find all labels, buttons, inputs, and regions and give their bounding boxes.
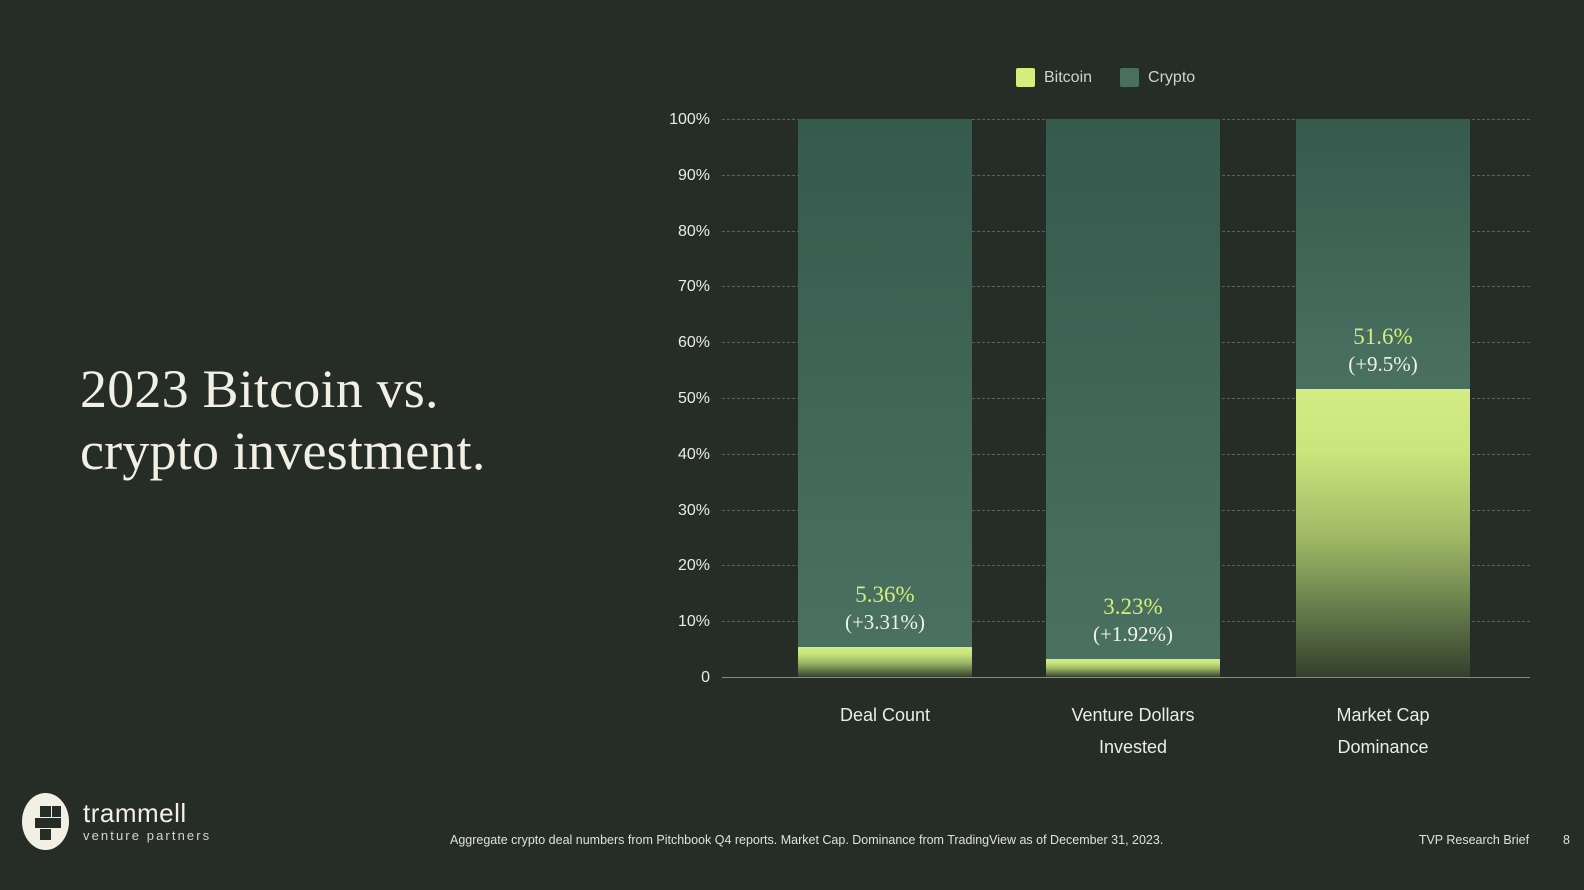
bar-data-label: 5.36%(+3.31%) bbox=[845, 581, 925, 635]
research-brief-label: TVP Research Brief bbox=[1419, 833, 1529, 847]
bar-data-label: 3.23%(+1.92%) bbox=[1093, 593, 1173, 647]
title-line-1: 2023 Bitcoin vs. bbox=[80, 358, 680, 420]
bar-value-text: 51.6% bbox=[1348, 323, 1418, 351]
category-axis-labels: Deal CountVenture DollarsInvestedMarket … bbox=[722, 677, 1484, 720]
legend-label-crypto: Crypto bbox=[1148, 69, 1195, 87]
legend-item-crypto[interactable]: Crypto bbox=[1120, 68, 1195, 87]
bar-group-deal-count[interactable]: 5.36%(+3.31%) bbox=[798, 119, 972, 677]
bar-segment-bitcoin[interactable] bbox=[1046, 659, 1220, 677]
source-footnote: Aggregate crypto deal numbers from Pitch… bbox=[450, 833, 1163, 847]
category-label-deal-count: Deal Count bbox=[785, 699, 985, 731]
y-axis-tick-10: 10% bbox=[678, 613, 710, 631]
bar-segment-crypto[interactable] bbox=[1046, 119, 1220, 659]
bar-delta-text: (+1.92%) bbox=[1093, 621, 1173, 647]
bar-group-market-cap-dominance[interactable]: 51.6%(+9.5%) bbox=[1296, 119, 1470, 677]
category-label-line: Invested bbox=[1033, 731, 1233, 763]
category-label-market-cap-dominance: Market CapDominance bbox=[1283, 699, 1483, 763]
category-label-venture-dollars-invested: Venture DollarsInvested bbox=[1033, 699, 1233, 763]
category-label-line: Venture Dollars bbox=[1033, 699, 1233, 731]
y-axis-tick-100: 100% bbox=[669, 111, 710, 129]
plot-area: 100%90%80%70%60%50%40%30%20%10%0 5.36%(+… bbox=[722, 119, 1484, 677]
y-axis-tick-60: 60% bbox=[678, 334, 710, 352]
y-axis-tick-0: 0 bbox=[701, 669, 710, 687]
y-axis-tick-20: 20% bbox=[678, 557, 710, 575]
bar-data-label: 51.6%(+9.5%) bbox=[1348, 323, 1418, 377]
bar-series: 5.36%(+3.31%)3.23%(+1.92%)51.6%(+9.5%) bbox=[722, 119, 1484, 677]
brand-logo: trammell venture partners bbox=[22, 793, 211, 850]
stacked-bar-chart: 100%90%80%70%60%50%40%30%20%10%0 5.36%(+… bbox=[664, 110, 1484, 720]
logo-name: trammell bbox=[83, 799, 211, 827]
bar-delta-text: (+9.5%) bbox=[1348, 351, 1418, 377]
legend-label-bitcoin: Bitcoin bbox=[1044, 69, 1092, 87]
y-axis-tick-30: 30% bbox=[678, 502, 710, 520]
bar-segment-bitcoin[interactable] bbox=[798, 647, 972, 677]
bar-segment-crypto[interactable] bbox=[798, 119, 972, 647]
y-axis-tick-40: 40% bbox=[678, 446, 710, 464]
category-label-line: Deal Count bbox=[785, 699, 985, 731]
legend-swatch-bitcoin-icon bbox=[1016, 68, 1035, 87]
bar-value-text: 3.23% bbox=[1093, 593, 1173, 621]
page-number: 8 bbox=[1563, 833, 1570, 847]
y-axis-tick-70: 70% bbox=[678, 278, 710, 296]
page-title: 2023 Bitcoin vs. crypto investment. bbox=[80, 358, 680, 482]
legend-item-bitcoin[interactable]: Bitcoin bbox=[1016, 68, 1092, 87]
category-label-line: Market Cap bbox=[1283, 699, 1483, 731]
bar-value-text: 5.36% bbox=[845, 581, 925, 609]
footer-right: TVP Research Brief 8 bbox=[1419, 833, 1570, 847]
legend-swatch-crypto-icon bbox=[1120, 68, 1139, 87]
title-line-2: crypto investment. bbox=[80, 420, 680, 482]
category-label-line: Dominance bbox=[1283, 731, 1483, 763]
slide-canvas: 2023 Bitcoin vs. crypto investment. Bitc… bbox=[0, 0, 1584, 890]
y-axis-tick-90: 90% bbox=[678, 167, 710, 185]
y-axis-tick-50: 50% bbox=[678, 390, 710, 408]
bar-segment-bitcoin[interactable] bbox=[1296, 389, 1470, 677]
logo-tagline: venture partners bbox=[83, 827, 211, 845]
trammell-t-mark-icon bbox=[22, 793, 69, 850]
bar-group-venture-dollars-invested[interactable]: 3.23%(+1.92%) bbox=[1046, 119, 1220, 677]
chart-legend: Bitcoin Crypto bbox=[1016, 68, 1195, 87]
y-axis-tick-80: 80% bbox=[678, 223, 710, 241]
bar-delta-text: (+3.31%) bbox=[845, 609, 925, 635]
